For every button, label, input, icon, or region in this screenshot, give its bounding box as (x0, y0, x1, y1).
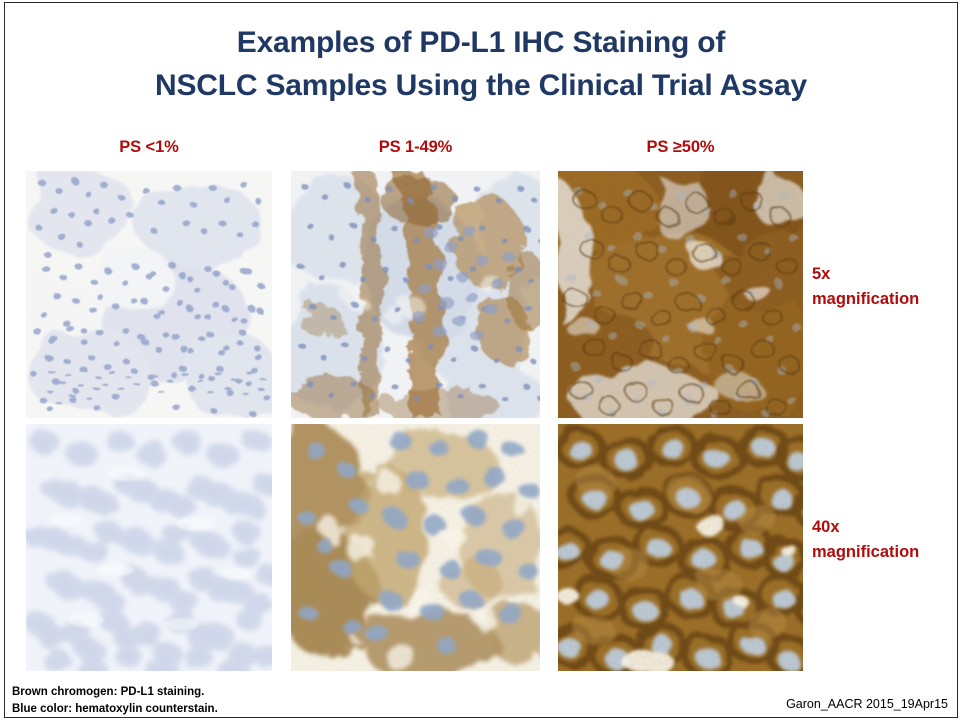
micrograph-ps-ge50-40x (558, 424, 803, 671)
magnification-label-40x: 40x magnification (812, 515, 958, 565)
column-header-ps-1-49: PS 1-49% (291, 138, 540, 157)
magnification-value-40x: 40x (812, 515, 958, 540)
footnote: Brown chromogen: PD-L1 staining. Blue co… (12, 684, 218, 717)
column-header-ps-lt1: PS <1% (26, 138, 272, 157)
presentation-slide: Examples of PD-L1 IHC Staining of NSCLC … (0, 0, 962, 722)
page-title: Examples of PD-L1 IHC Staining of NSCLC … (0, 22, 962, 107)
micrograph-ps-lt1-5x (26, 171, 272, 418)
micrograph-ps-1-49-40x (291, 424, 540, 671)
title-line-2: NSCLC Samples Using the Clinical Trial A… (0, 65, 962, 108)
micrograph-ps-1-49-5x (291, 171, 540, 418)
magnification-value-5x: 5x (812, 262, 958, 287)
magnification-word-5x: magnification (812, 287, 958, 312)
magnification-word-40x: magnification (812, 540, 958, 565)
title-line-1: Examples of PD-L1 IHC Staining of (0, 22, 962, 65)
micrograph-ps-lt1-40x (26, 424, 272, 671)
attribution-text: Garon_AACR 2015_19Apr15 (786, 697, 948, 711)
footnote-line-2: Blue color: hematoxylin counterstain. (12, 701, 218, 718)
column-header-ps-ge50: PS ≥50% (558, 138, 803, 157)
micrograph-ps-ge50-5x (558, 171, 803, 418)
magnification-label-5x: 5x magnification (812, 262, 958, 312)
footnote-line-1: Brown chromogen: PD-L1 staining. (12, 684, 218, 701)
